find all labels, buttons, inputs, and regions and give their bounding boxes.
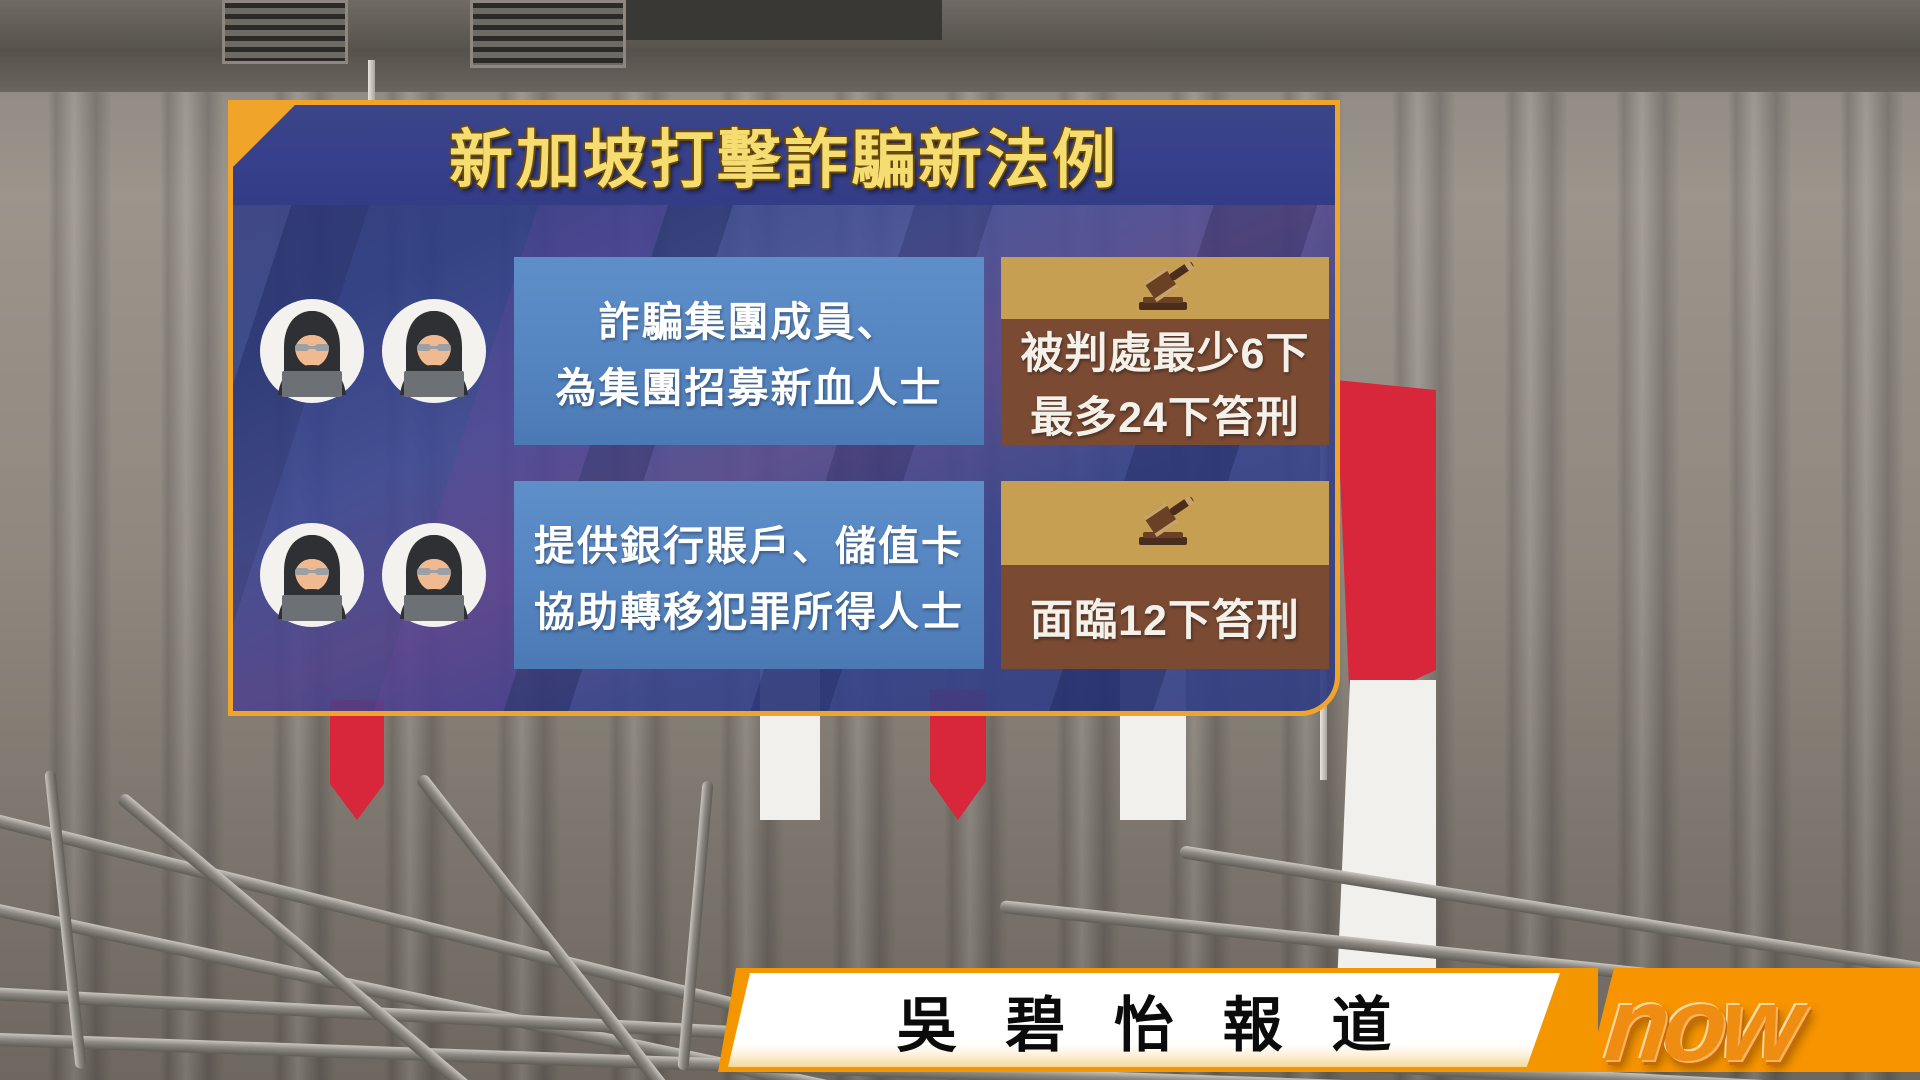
gavel-band [1001, 257, 1329, 319]
offence-line: 協助轉移犯罪所得人士 [534, 578, 964, 638]
penalty-box: 被判處最少6下 最多24下笞刑 [1001, 257, 1329, 445]
graphic-title: 新加坡打擊詐騙新法例 [449, 109, 1119, 201]
offence-line: 為集團招募新血人士 [556, 354, 943, 414]
penalty-text: 面臨12下笞刑 [1001, 565, 1329, 669]
penalty-text: 被判處最少6下 最多24下笞刑 [1001, 319, 1329, 445]
channel-logo: now [1588, 962, 1920, 1080]
graphic-title-bar: 新加坡打擊詐騙新法例 [233, 105, 1335, 205]
reporter-lower-third: 吳 碧 怡 報 道 [718, 968, 1598, 1072]
offender-icons-group [233, 243, 513, 458]
penalty-line: 被判處最少6下 [1021, 319, 1310, 381]
penalty-cell: 被判處最少6下 最多24下笞刑 [989, 243, 1335, 458]
penalty-cell: 面臨12下笞刑 [989, 467, 1335, 682]
offender-icons-group [233, 467, 513, 682]
channel-logo-text: now [1600, 966, 1802, 1080]
gavel-icon [1125, 497, 1205, 549]
penalty-line: 面臨12下笞刑 [1030, 586, 1300, 648]
penalty-row: 提供銀行賬戶、儲值卡 協助轉移犯罪所得人士 [233, 467, 1335, 682]
hooded-hacker-icon [260, 299, 364, 403]
hooded-hacker-icon [382, 299, 486, 403]
corner-triangle-accent [233, 105, 295, 167]
penalty-line: 最多24下笞刑 [1030, 383, 1300, 445]
building-window [470, 0, 626, 68]
building-window [222, 0, 348, 64]
penalty-row: 詐騙集團成員、 為集團招募新血人士 [233, 243, 1335, 458]
building-shadow [612, 0, 942, 40]
offence-line: 詐騙集團成員、 [599, 288, 900, 348]
lower-third-plate: 吳 碧 怡 報 道 [728, 973, 1560, 1067]
gavel-icon [1125, 262, 1205, 314]
graphic-content: 詐騙集團成員、 為集團招募新血人士 [233, 205, 1335, 716]
reporter-byline: 吳 碧 怡 報 道 [881, 977, 1408, 1064]
infographic-panel: 新加坡打擊詐騙新法例 [228, 100, 1340, 716]
broadcast-screen: 新加坡打擊詐騙新法例 [0, 0, 1920, 1080]
penalty-box: 面臨12下笞刑 [1001, 481, 1329, 669]
hooded-hacker-icon [382, 523, 486, 627]
gavel-band [1001, 481, 1329, 565]
offence-box: 詐騙集團成員、 為集團招募新血人士 [514, 257, 984, 445]
offence-line: 提供銀行賬戶、儲值卡 [534, 512, 964, 572]
offence-box: 提供銀行賬戶、儲值卡 協助轉移犯罪所得人士 [514, 481, 984, 669]
offence-description-cell: 詐騙集團成員、 為集團招募新血人士 [513, 243, 989, 458]
hooded-hacker-icon [260, 523, 364, 627]
offence-description-cell: 提供銀行賬戶、儲值卡 協助轉移犯罪所得人士 [513, 467, 989, 682]
